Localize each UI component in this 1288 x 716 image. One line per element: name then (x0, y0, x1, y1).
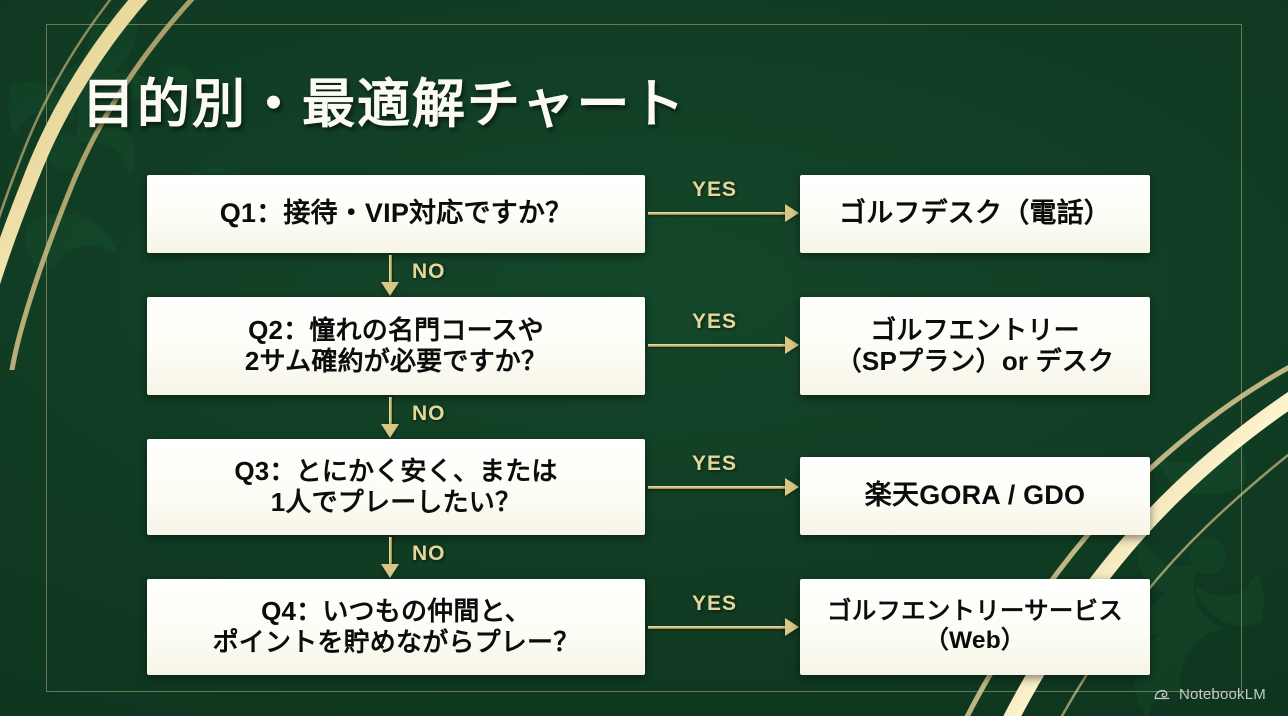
no-arrowhead-1 (381, 282, 399, 296)
yes-arrowhead-4 (785, 618, 799, 636)
question-node-q3-text: Q3：とにかく安く、または 1人でプレーしたい？ (234, 456, 557, 517)
answer-node-4-text: ゴルフエントリーサービス （Web） (827, 598, 1123, 656)
question-node-q2[interactable]: Q2：憧れの名門コースや 2サム確約が必要ですか？ (147, 297, 645, 395)
answer-node-3-text: 楽天GORA / GDO (865, 480, 1085, 512)
yes-connector-line-2 (648, 344, 794, 347)
no-label-2: NO (412, 402, 446, 426)
question-node-q4-text: Q4：いつもの仲間と、 ポイントを貯めながらプレー？ (213, 596, 580, 657)
answer-node-1-text: ゴルフデスク（電話） (839, 198, 1111, 230)
no-arrowhead-3 (381, 564, 399, 578)
no-arrowhead-2 (381, 424, 399, 438)
answer-node-1[interactable]: ゴルフデスク（電話） (800, 175, 1150, 253)
no-label-3: NO (412, 542, 446, 566)
question-node-q1-text: Q1：接待・VIP対応ですか？ (220, 198, 573, 230)
no-label-1: NO (412, 260, 446, 284)
notebooklm-watermark: NotebookLM (1153, 685, 1266, 704)
answer-node-2-text: ゴルフエントリー （SPプラン）or デスク (836, 315, 1115, 376)
decision-flowchart: Q1：接待・VIP対応ですか？ YES ゴルフデスク（電話） NO Q2：憧れの… (0, 0, 1288, 716)
yes-label-1: YES (692, 178, 737, 202)
question-node-q1[interactable]: Q1：接待・VIP対応ですか？ (147, 175, 645, 253)
answer-node-4[interactable]: ゴルフエントリーサービス （Web） (800, 579, 1150, 675)
notebooklm-spiral-icon (1153, 685, 1172, 704)
question-node-q2-text: Q2：憧れの名門コースや 2サム確約が必要ですか？ (245, 315, 547, 376)
answer-node-3[interactable]: 楽天GORA / GDO (800, 457, 1150, 535)
yes-connector-line-4 (648, 626, 794, 629)
yes-arrowhead-2 (785, 336, 799, 354)
yes-connector-line-1 (648, 212, 794, 215)
yes-label-4: YES (692, 592, 737, 616)
question-node-q3[interactable]: Q3：とにかく安く、または 1人でプレーしたい？ (147, 439, 645, 535)
slide-canvas: 目的別・最適解チャート Q1：接待・VIP対応ですか？ YES ゴルフデスク（電… (0, 0, 1288, 716)
yes-label-2: YES (692, 310, 737, 334)
notebooklm-watermark-label: NotebookLM (1179, 686, 1266, 703)
yes-label-3: YES (692, 452, 737, 476)
answer-node-2[interactable]: ゴルフエントリー （SPプラン）or デスク (800, 297, 1150, 395)
question-node-q4[interactable]: Q4：いつもの仲間と、 ポイントを貯めながらプレー？ (147, 579, 645, 675)
yes-arrowhead-3 (785, 478, 799, 496)
yes-arrowhead-1 (785, 204, 799, 222)
yes-connector-line-3 (648, 486, 794, 489)
